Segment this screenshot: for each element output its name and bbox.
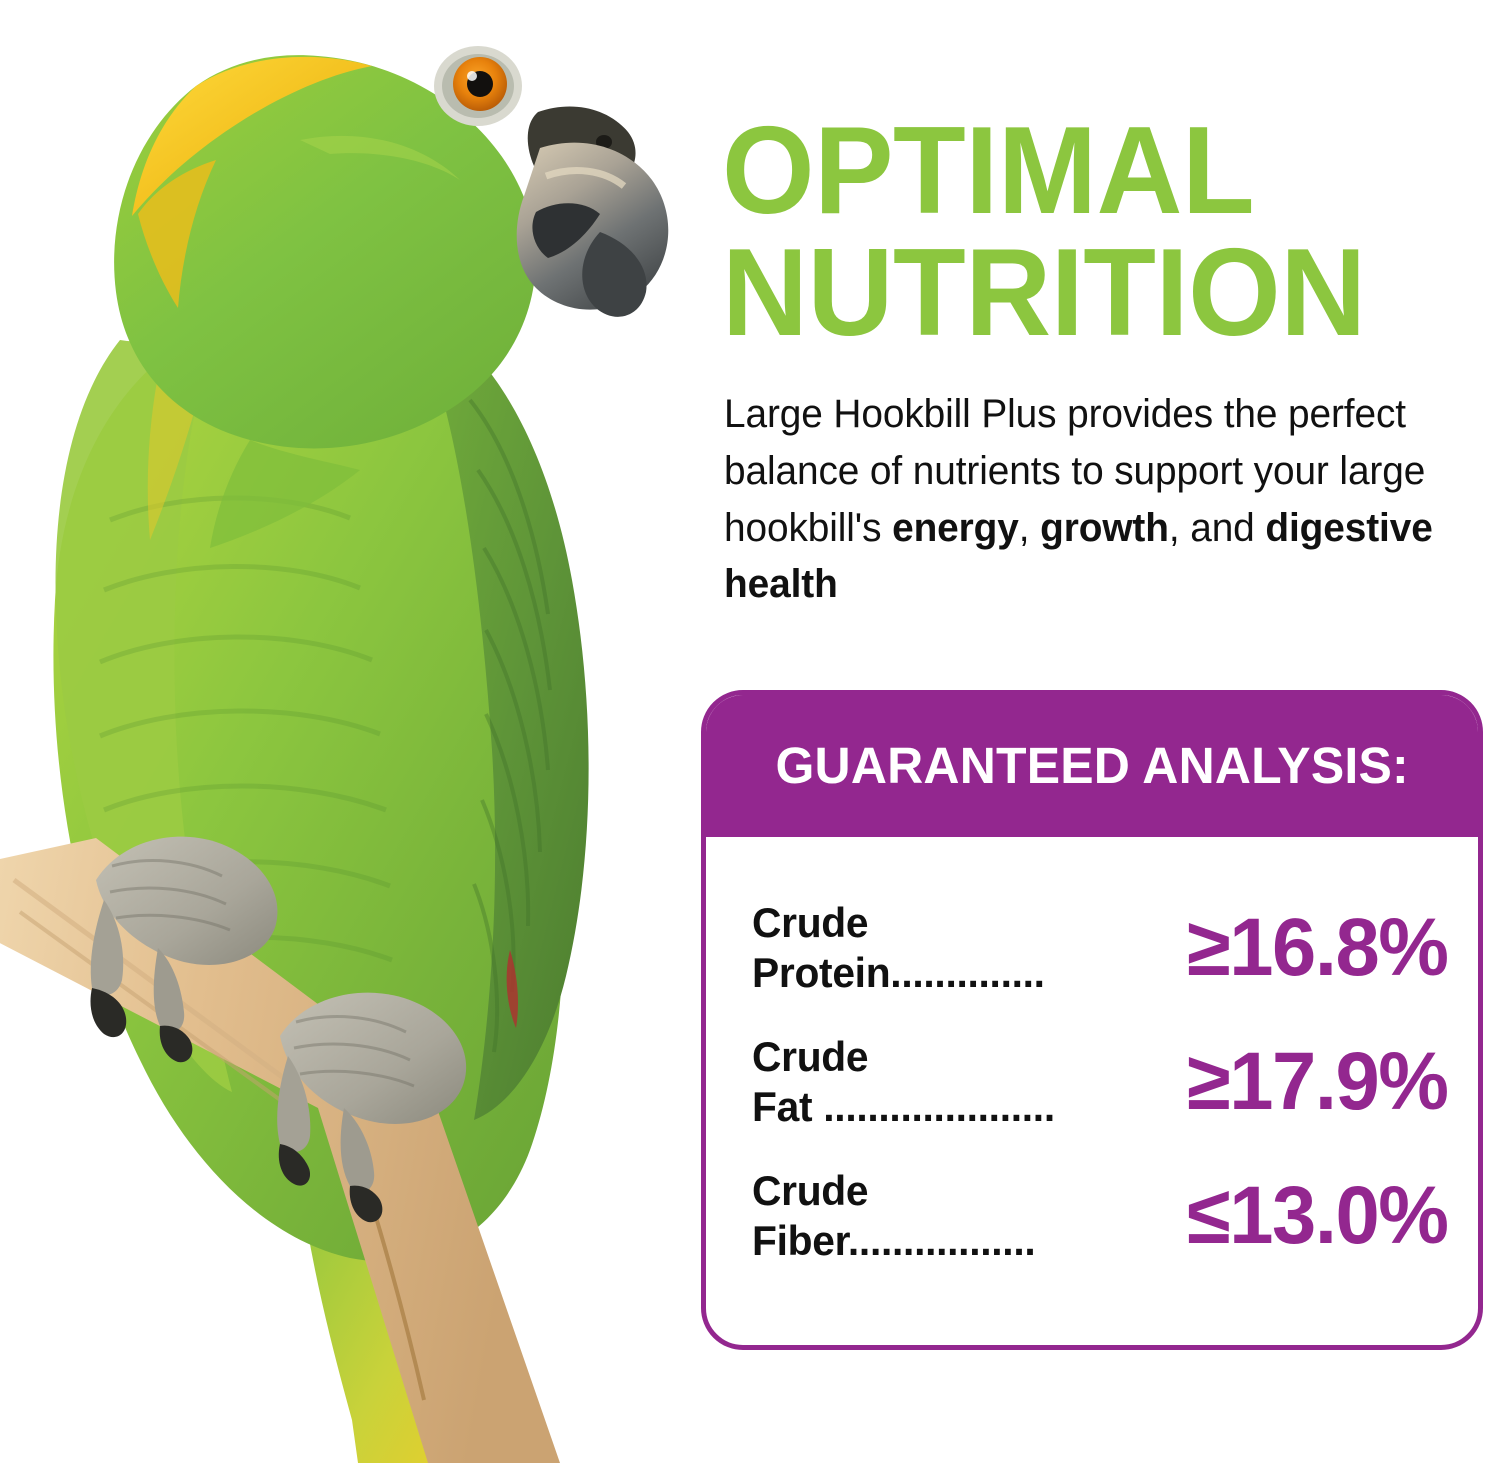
guaranteed-analysis-header: GUARANTEED ANALYSIS: bbox=[705, 694, 1479, 837]
nutrient-value-crude-protein: ≥16.8% bbox=[1188, 907, 1448, 989]
body-copy: Large Hookbill Plus provides the perfect… bbox=[724, 386, 1473, 613]
content-column: OPTIMAL NUTRITION Large Hookbill Plus pr… bbox=[700, 0, 1500, 1463]
parrot-illustration bbox=[0, 0, 700, 1463]
nutrient-label-crude-protein: Crude Protein.............. bbox=[752, 898, 1045, 997]
emphasis-growth: growth bbox=[1040, 506, 1169, 550]
nutrient-label-crude-fat: Crude Fat ..................... bbox=[752, 1032, 1055, 1131]
nutrient-row-crude-fat: Crude Fat ..................... ≥17.9% bbox=[752, 1015, 1448, 1149]
product-marketing-image: OPTIMAL NUTRITION Large Hookbill Plus pr… bbox=[0, 0, 1500, 1463]
nutrient-label-top: Crude bbox=[752, 1032, 1055, 1082]
nutrient-label-top: Crude bbox=[752, 898, 1045, 948]
nutrient-label-bottom: Fiber................. bbox=[752, 1216, 1035, 1266]
nutrient-label-top: Crude bbox=[752, 1166, 1035, 1216]
body-segment-2: , bbox=[1019, 506, 1040, 550]
headline-line-1: OPTIMAL bbox=[722, 111, 1461, 233]
nutrient-row-crude-protein: Crude Protein.............. ≥16.8% bbox=[752, 881, 1448, 1015]
nutrient-value-crude-fiber: ≤13.0% bbox=[1188, 1175, 1448, 1257]
nutrient-value-crude-fat: ≥17.9% bbox=[1188, 1041, 1448, 1123]
parrot-eye bbox=[434, 46, 522, 126]
guaranteed-analysis-body: Crude Protein.............. ≥16.8% Crude… bbox=[706, 837, 1478, 1293]
emphasis-energy: energy bbox=[892, 506, 1019, 550]
guaranteed-analysis-card: GUARANTEED ANALYSIS: Crude Protein......… bbox=[701, 690, 1483, 1350]
headline-line-2: NUTRITION bbox=[722, 233, 1461, 355]
body-segment-3: , and bbox=[1169, 506, 1265, 550]
page-title: OPTIMAL NUTRITION bbox=[722, 111, 1461, 354]
eye-highlight bbox=[467, 71, 477, 81]
nutrient-label-bottom: Protein.............. bbox=[752, 948, 1045, 998]
guaranteed-analysis-title: GUARANTEED ANALYSIS: bbox=[775, 736, 1408, 795]
parrot-photo bbox=[0, 0, 700, 1463]
nutrient-label-bottom: Fat ..................... bbox=[752, 1082, 1055, 1132]
nutrient-row-crude-fiber: Crude Fiber................. ≤13.0% bbox=[752, 1149, 1448, 1283]
nutrient-label-crude-fiber: Crude Fiber................. bbox=[752, 1166, 1035, 1265]
